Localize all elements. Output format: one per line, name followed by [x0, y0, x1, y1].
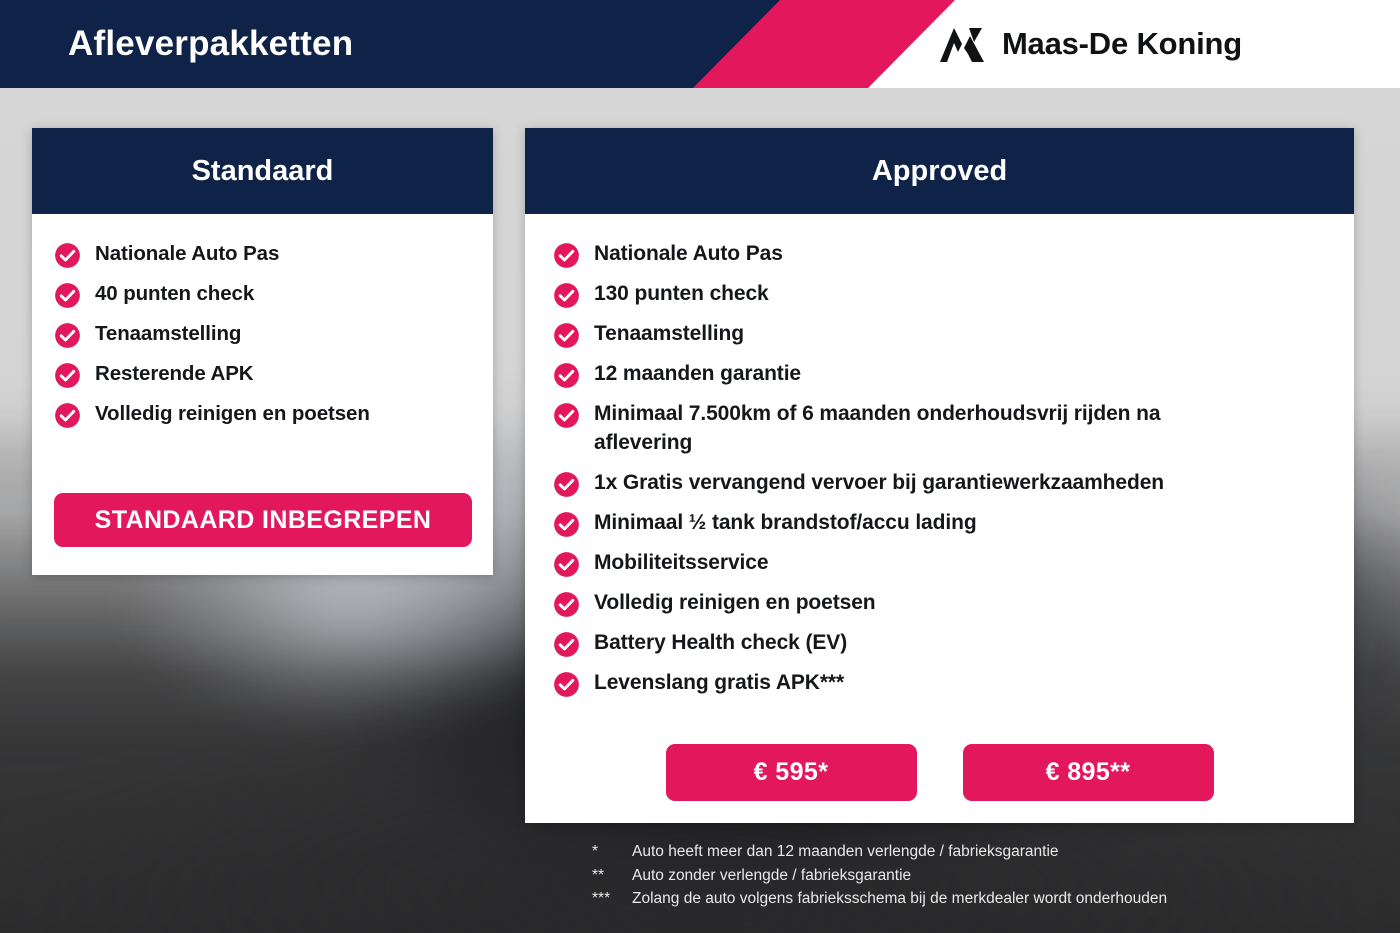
footnote-text: Zolang de auto volgens fabrieksschema bi… [632, 887, 1167, 911]
list-item: Nationale Auto Pas [553, 240, 1354, 269]
check-circle-icon [553, 282, 580, 309]
check-circle-icon [553, 671, 580, 698]
check-circle-icon [553, 631, 580, 658]
feature-label: 130 punten check [594, 280, 769, 309]
price-button-row: € 595* € 895** [525, 744, 1354, 801]
card-title-approved: Approved [525, 128, 1354, 214]
check-circle-icon [553, 471, 580, 498]
package-card-approved: Approved Nationale Auto Pas 130 punten c… [525, 128, 1354, 823]
brand-logo: Maas-De Koning [938, 0, 1242, 88]
check-circle-icon [54, 362, 81, 389]
footnote-row: ** Auto zonder verlengde / fabrieksgaran… [592, 864, 1167, 888]
check-circle-icon [553, 362, 580, 389]
feature-label: Minimaal ½ tank brandstof/accu lading [594, 509, 977, 538]
check-circle-icon [553, 242, 580, 269]
list-item: Minimaal 7.500km of 6 maanden onderhouds… [553, 400, 1354, 458]
check-circle-icon [553, 511, 580, 538]
footnote-text: Auto zonder verlengde / fabrieksgarantie [632, 864, 911, 888]
feature-label: 1x Gratis vervangend vervoer bij garanti… [594, 469, 1164, 498]
check-circle-icon [553, 551, 580, 578]
page-title: Afleverpakketten [68, 0, 353, 88]
feature-label: Volledig reinigen en poetsen [594, 589, 876, 618]
feature-list-standaard: Nationale Auto Pas 40 punten check Tenaa… [32, 214, 493, 429]
package-card-standaard: Standaard Nationale Auto Pas 40 punten c… [32, 128, 493, 575]
feature-list-approved: Nationale Auto Pas 130 punten check Tena… [525, 214, 1354, 698]
check-circle-icon [54, 402, 81, 429]
footnote-marker: * [592, 840, 632, 864]
check-circle-icon [54, 322, 81, 349]
list-item: Resterende APK [54, 360, 493, 389]
list-item: Volledig reinigen en poetsen [553, 589, 1354, 618]
feature-label: 40 punten check [95, 280, 254, 308]
footnote-text: Auto heeft meer dan 12 maanden verlengde… [632, 840, 1059, 864]
list-item: Tenaamstelling [54, 320, 493, 349]
feature-label: Resterende APK [95, 360, 253, 388]
list-item: Battery Health check (EV) [553, 629, 1354, 658]
list-item: 12 maanden garantie [553, 360, 1354, 389]
card-title-standaard: Standaard [32, 128, 493, 214]
list-item: Volledig reinigen en poetsen [54, 400, 493, 429]
feature-label: Mobiliteitsservice [594, 549, 768, 578]
list-item: Levenslang gratis APK*** [553, 669, 1354, 698]
feature-label: Battery Health check (EV) [594, 629, 847, 658]
footnote-row: *** Zolang de auto volgens fabrieksschem… [592, 887, 1167, 911]
feature-label: Tenaamstelling [95, 320, 241, 348]
footnotes: * Auto heeft meer dan 12 maanden verleng… [592, 840, 1167, 911]
feature-label: Nationale Auto Pas [95, 240, 279, 268]
price-button-895[interactable]: € 895** [963, 744, 1214, 801]
price-button-595[interactable]: € 595* [666, 744, 917, 801]
list-item: 40 punten check [54, 280, 493, 309]
check-circle-icon [553, 322, 580, 349]
check-circle-icon [54, 242, 81, 269]
footnote-marker: ** [592, 864, 632, 888]
check-circle-icon [553, 591, 580, 618]
page-header: Afleverpakketten Maas-De Koning [0, 0, 1400, 88]
footnote-row: * Auto heeft meer dan 12 maanden verleng… [592, 840, 1167, 864]
feature-label: 12 maanden garantie [594, 360, 801, 389]
feature-label: Minimaal 7.500km of 6 maanden onderhouds… [594, 400, 1234, 458]
feature-label: Tenaamstelling [594, 320, 744, 349]
brand-name: Maas-De Koning [1002, 26, 1242, 62]
check-circle-icon [54, 282, 81, 309]
list-item: Mobiliteitsservice [553, 549, 1354, 578]
feature-label: Volledig reinigen en poetsen [95, 400, 370, 428]
check-circle-icon [553, 402, 580, 429]
standaard-included-button[interactable]: STANDAARD INBEGREPEN [54, 493, 472, 547]
maas-de-koning-m-mark-icon [938, 24, 986, 64]
list-item: 130 punten check [553, 280, 1354, 309]
feature-label: Nationale Auto Pas [594, 240, 783, 269]
feature-label: Levenslang gratis APK*** [594, 669, 844, 698]
list-item: Minimaal ½ tank brandstof/accu lading [553, 509, 1354, 538]
list-item: Nationale Auto Pas [54, 240, 493, 269]
list-item: 1x Gratis vervangend vervoer bij garanti… [553, 469, 1354, 498]
list-item: Tenaamstelling [553, 320, 1354, 349]
footnote-marker: *** [592, 887, 632, 911]
